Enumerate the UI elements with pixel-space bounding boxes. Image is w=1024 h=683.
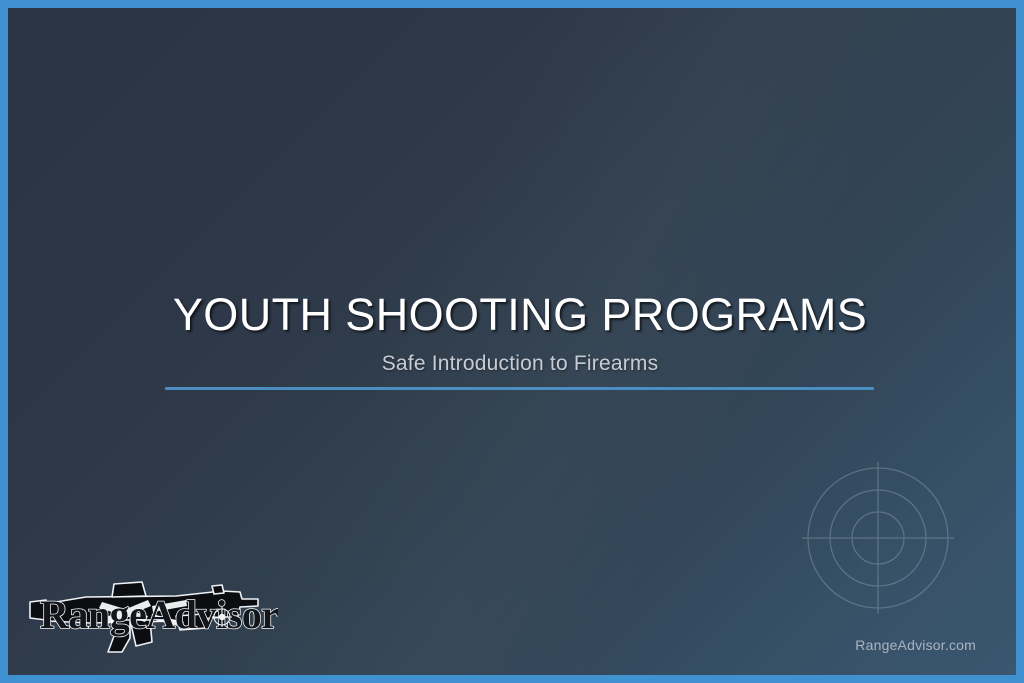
- brand-logo: RangeAdvisor: [26, 566, 278, 666]
- footer-website-url: RangeAdvisor.com: [855, 637, 976, 653]
- presentation-slide: YOUTH SHOOTING PROGRAMS Safe Introductio…: [0, 0, 1024, 683]
- title-block: YOUTH SHOOTING PROGRAMS Safe Introductio…: [8, 291, 1024, 376]
- page-subtitle: Safe Introduction to Firearms: [8, 352, 1024, 376]
- page-title: YOUTH SHOOTING PROGRAMS: [8, 291, 1024, 340]
- accent-divider: [165, 387, 874, 390]
- crosshair-target-icon: [800, 460, 956, 616]
- brand-wordmark: RangeAdvisor: [40, 592, 278, 637]
